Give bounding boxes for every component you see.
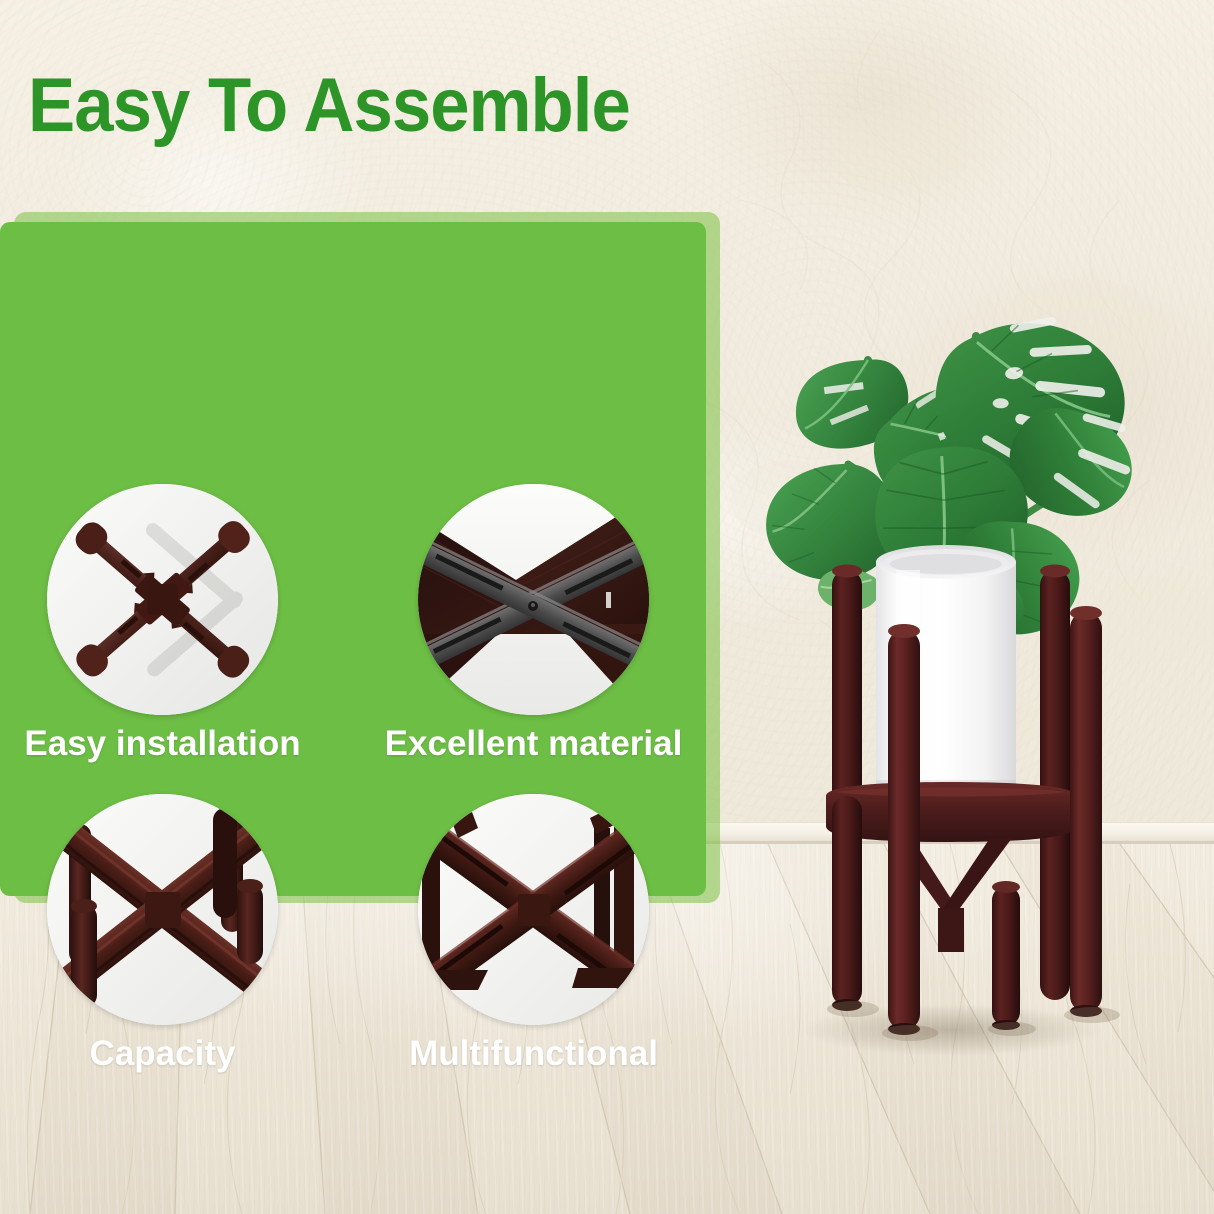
feature-card-capacity[interactable]: Capacity bbox=[47, 794, 278, 1094]
stand-crossbar-angle-photo bbox=[418, 794, 649, 1025]
feature-label: Excellent material bbox=[385, 724, 683, 764]
stand-cross-brace bbox=[826, 782, 1076, 952]
assembled-stand-topview-photo bbox=[47, 794, 278, 1025]
feature-label: Capacity bbox=[90, 1034, 236, 1074]
disassembled-cross-legs-photo bbox=[47, 484, 278, 715]
mid-century-plant-stand bbox=[740, 240, 1160, 1080]
feature-card-easy-installation[interactable]: Easy installation bbox=[47, 484, 278, 784]
feature-panel: Easy installation bbox=[0, 222, 706, 896]
page-title: Easy To Assemble bbox=[28, 62, 630, 149]
feature-card-excellent-material[interactable]: Excellent material bbox=[418, 484, 649, 784]
feature-label: Multifunctional bbox=[409, 1034, 658, 1074]
wood-grain-closeup-photo bbox=[418, 484, 649, 715]
feature-label: Easy installation bbox=[24, 724, 300, 764]
feature-card-multifunctional[interactable]: Multifunctional bbox=[418, 794, 649, 1094]
